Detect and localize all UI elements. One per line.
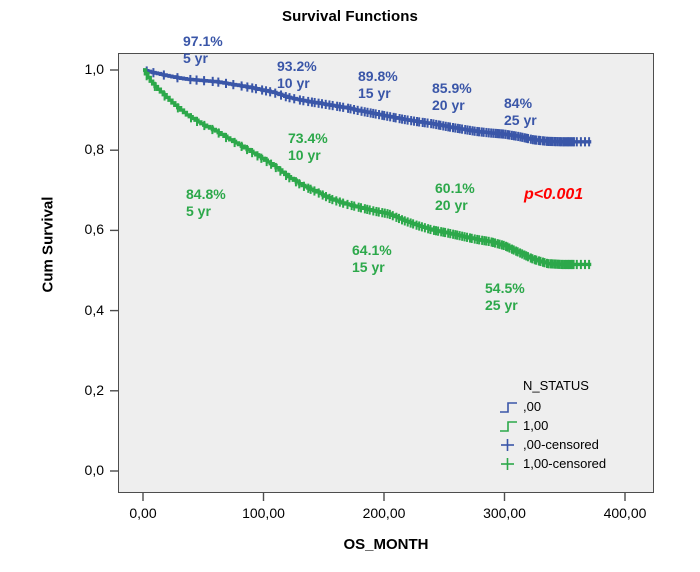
annotation-percent: 93.2% (277, 58, 317, 75)
survival-chart: Survival Functions 0,00,20,40,60,81,0 0,… (0, 0, 700, 572)
annotation-timepoint: 20 yr (435, 197, 475, 214)
x-tick-label: 300,00 (460, 505, 550, 521)
legend-title: N_STATUS (523, 378, 647, 393)
annotation-timepoint: 5 yr (183, 50, 223, 67)
y-tick-label: 1,0 (46, 61, 104, 77)
annotation-percent: 89.8% (358, 68, 398, 85)
annotation-percent: 60.1% (435, 180, 475, 197)
legend-item[interactable]: 1,00 (497, 416, 647, 435)
annotation-percent: 64.1% (352, 242, 392, 259)
legend-item-label: ,00 (523, 399, 541, 414)
annotation-timepoint: 10 yr (277, 75, 317, 92)
p-value-label: p<0.001 (524, 186, 583, 204)
annotation-timepoint: 15 yr (358, 85, 398, 102)
annotation-percent: 54.5% (485, 280, 525, 297)
legend-item-label: 1,00 (523, 418, 548, 433)
annotation-timepoint: 5 yr (186, 203, 226, 220)
censored-marker-icon (497, 455, 523, 473)
annotation-percent: 97.1% (183, 33, 223, 50)
survival-annotation: 89.8%15 yr (358, 68, 398, 102)
legend: N_STATUS ,001,00,00-censored1,00-censore… (497, 378, 647, 473)
survival-annotation: 84%25 yr (504, 95, 537, 129)
annotation-percent: 85.9% (432, 80, 472, 97)
annotation-timepoint: 25 yr (504, 112, 537, 129)
survival-annotation: 64.1%15 yr (352, 242, 392, 276)
survival-annotation: 73.4%10 yr (288, 130, 328, 164)
survival-annotation: 97.1%5 yr (183, 33, 223, 67)
step-line-icon (497, 417, 523, 435)
survival-annotation: 84.8%5 yr (186, 186, 226, 220)
legend-item[interactable]: 1,00-censored (497, 454, 647, 473)
annotation-timepoint: 15 yr (352, 259, 392, 276)
x-axis-title: OS_MONTH (118, 536, 654, 553)
annotation-timepoint: 25 yr (485, 297, 525, 314)
legend-item[interactable]: ,00 (497, 397, 647, 416)
survival-annotation: 60.1%20 yr (435, 180, 475, 214)
annotation-percent: 84% (504, 95, 537, 112)
censored-marker-icon (497, 436, 523, 454)
annotation-percent: 84.8% (186, 186, 226, 203)
plot-canvas (0, 0, 700, 572)
annotation-timepoint: 10 yr (288, 147, 328, 164)
x-tick-label: 400,00 (580, 505, 670, 521)
y-tick-label: 0,0 (46, 462, 104, 478)
step-line-icon (497, 398, 523, 416)
y-axis-title: Cum Survival (40, 145, 57, 345)
legend-item-label: 1,00-censored (523, 456, 606, 471)
annotation-percent: 73.4% (288, 130, 328, 147)
survival-annotation: 54.5%25 yr (485, 280, 525, 314)
legend-item[interactable]: ,00-censored (497, 435, 647, 454)
annotation-timepoint: 20 yr (432, 97, 472, 114)
x-tick-label: 0,00 (98, 505, 188, 521)
x-tick-label: 100,00 (219, 505, 309, 521)
y-tick-label: 0,2 (46, 382, 104, 398)
survival-annotation: 93.2%10 yr (277, 58, 317, 92)
legend-item-label: ,00-censored (523, 437, 599, 452)
survival-annotation: 85.9%20 yr (432, 80, 472, 114)
x-tick-label: 200,00 (339, 505, 429, 521)
